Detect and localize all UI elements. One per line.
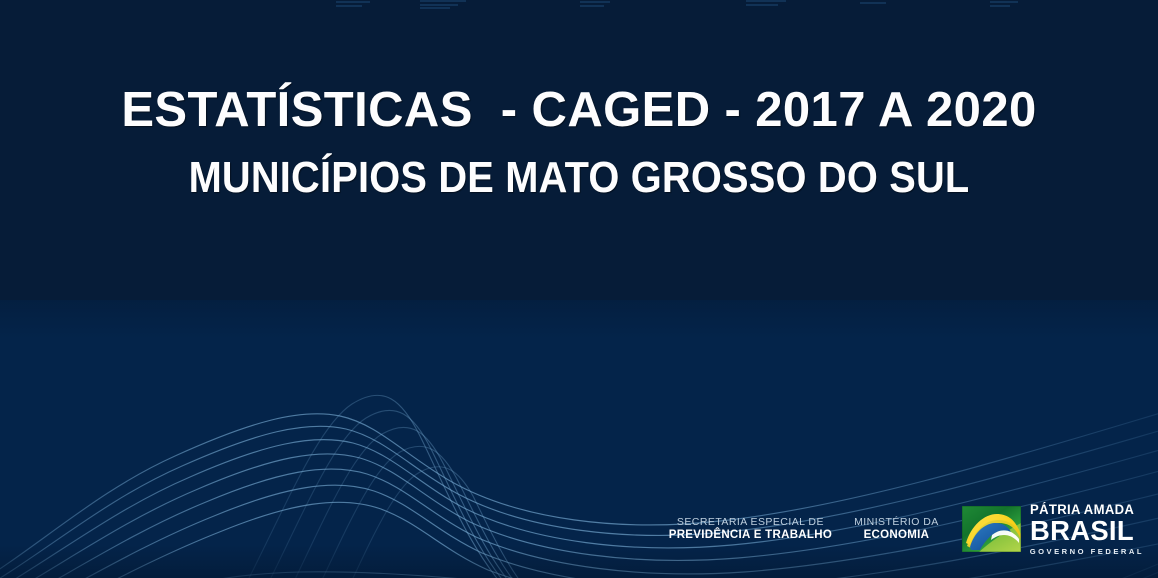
- ministerio-line-top: MINISTÉRIO DA: [854, 517, 939, 529]
- secretaria-line-bottom: PREVIDÊNCIA E TRABALHO: [669, 529, 832, 542]
- ministerio-line-bottom: ECONOMIA: [864, 529, 930, 542]
- presentation-slide-cover: ESTATÍSTICAS - CAGED - 2017 A 2020 MUNIC…: [0, 0, 1158, 578]
- brand-tagline: PÁTRIA AMADA: [1030, 503, 1141, 517]
- brand-wordmark: PÁTRIA AMADA BRASIL GOVERNO FEDERAL: [1030, 503, 1144, 556]
- slide-title-line-1: ESTATÍSTICAS - CAGED - 2017 A 2020: [0, 86, 1158, 136]
- brand-name: BRASIL: [1030, 517, 1142, 545]
- logo-secretaria-previdencia-trabalho: SECRETARIA ESPECIAL DE PREVIDÊNCIA E TRA…: [658, 517, 843, 543]
- secretaria-line-top: SECRETARIA ESPECIAL DE: [677, 517, 824, 529]
- slide-title-block: ESTATÍSTICAS - CAGED - 2017 A 2020 MUNIC…: [0, 86, 1158, 201]
- government-logo-bar: SECRETARIA ESPECIAL DE PREVIDÊNCIA E TRA…: [658, 503, 1144, 556]
- logo-patria-amada-brasil: PÁTRIA AMADA BRASIL GOVERNO FEDERAL: [962, 503, 1144, 556]
- logo-ministerio-economia: MINISTÉRIO DA ECONOMIA: [843, 517, 950, 543]
- brazil-flag-swoosh-icon: [962, 506, 1021, 552]
- brand-subtitle: GOVERNO FEDERAL: [1030, 548, 1144, 556]
- slide-title-line-2: MUNICÍPIOS DE MATO GROSSO DO SUL: [55, 156, 1103, 201]
